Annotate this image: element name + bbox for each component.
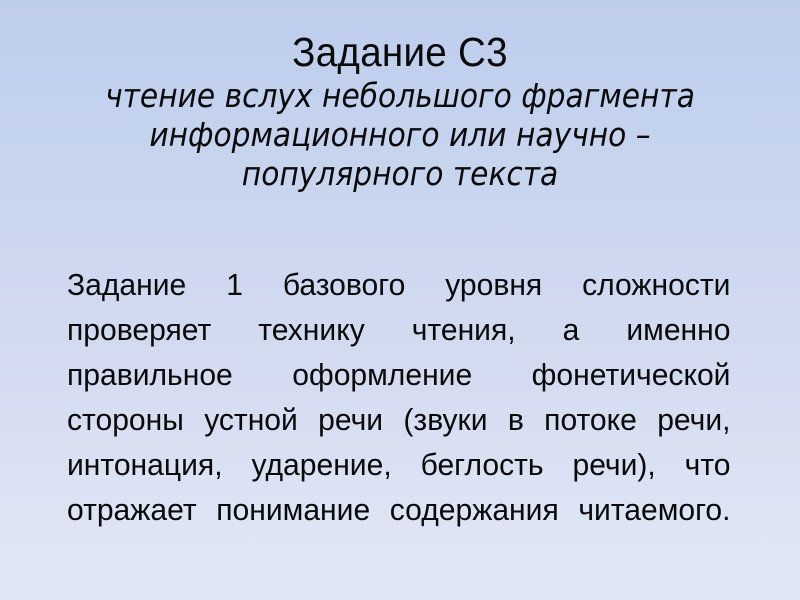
body-paragraph: Задание 1 базового уровня сложности пров… [67,262,730,577]
slide-subtitle: чтение вслух небольшого фрагмента информ… [40,76,760,193]
subtitle-line-2: информационного или научно – [65,115,735,154]
presentation-slide: Задание С3 чтение вслух небольшого фрагм… [0,0,800,600]
slide-body-block: Задание 1 базового уровня сложности пров… [67,262,751,577]
subtitle-line-3: популярного текста [65,154,735,193]
slide-title-block: Задание С3 чтение вслух небольшого фрагм… [0,30,800,193]
subtitle-line-1: чтение вслух небольшого фрагмента [65,76,735,115]
page-title: Задание С3 [24,30,776,75]
